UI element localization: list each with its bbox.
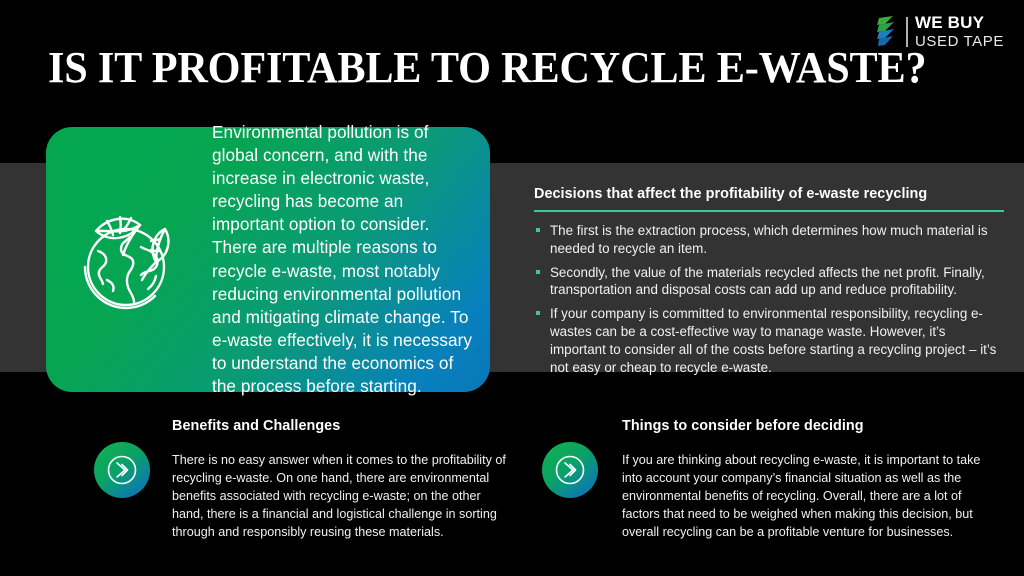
decisions-divider <box>534 210 1004 212</box>
decisions-bullet-list: The first is the extraction process, whi… <box>534 222 1004 377</box>
considerations-paragraph: If you are thinking about recycling e-wa… <box>622 452 1002 541</box>
double-chevron-circle-icon <box>542 442 598 498</box>
benefits-body: Benefits and Challenges There is no easy… <box>150 418 514 541</box>
considerations-block: Things to consider before deciding If yo… <box>542 418 1002 541</box>
decisions-bullet-1: The first is the extraction process, whi… <box>534 222 1004 258</box>
decisions-section: Decisions that affect the profitability … <box>534 186 1004 383</box>
logo-line-2: USED TAPE <box>915 34 1004 49</box>
logo-line-1: WE BUY <box>915 14 1004 31</box>
hero-card: Environmental pollution is of global con… <box>46 127 490 392</box>
benefits-block: Benefits and Challenges There is no easy… <box>94 418 514 541</box>
decisions-bullet-2: Secondly, the value of the materials rec… <box>534 264 1004 300</box>
decisions-bullet-3: If your company is committed to environm… <box>534 305 1004 376</box>
benefits-heading: Benefits and Challenges <box>172 418 514 434</box>
considerations-body: Things to consider before deciding If yo… <box>598 418 1002 541</box>
logo-wordmark: WE BUY USED TAPE <box>915 14 1004 49</box>
decisions-heading: Decisions that affect the profitability … <box>534 186 1004 202</box>
double-chevron-circle-icon <box>94 442 150 498</box>
hero-paragraph: Environmental pollution is of global con… <box>198 121 480 398</box>
benefits-paragraph: There is no easy answer when it comes to… <box>172 452 514 541</box>
page-title: IS IT PROFITABLE TO RECYCLE E-WASTE? <box>48 42 926 93</box>
globe-with-leaves-icon <box>68 195 198 325</box>
considerations-heading: Things to consider before deciding <box>622 418 1002 434</box>
